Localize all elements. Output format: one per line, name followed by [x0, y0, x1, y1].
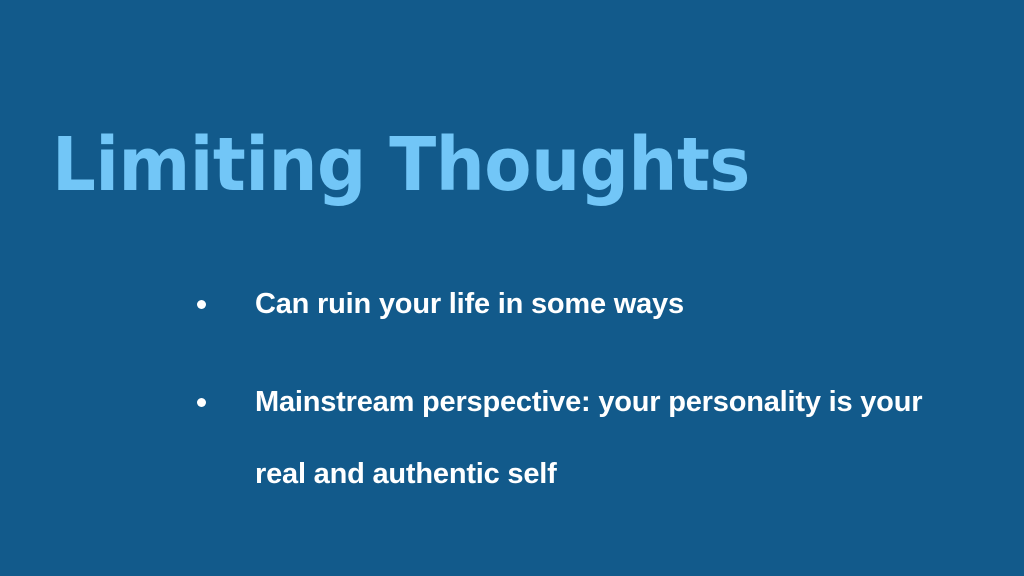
list-item: Mainstream perspective: your personality…	[190, 366, 950, 510]
page-title: Limiting Thoughts	[52, 128, 750, 202]
bullet-point-icon	[197, 398, 206, 407]
bullet-list: Can ruin your life in some ways Mainstre…	[190, 268, 950, 510]
presentation-slide: Limiting Thoughts Can ruin your life in …	[0, 0, 1024, 576]
bullet-point-icon	[197, 300, 206, 309]
bullet-item-label: Can ruin your life in some ways	[255, 268, 950, 340]
list-item: Can ruin your life in some ways	[190, 268, 950, 340]
bullet-item-label: Mainstream perspective: your personality…	[255, 366, 945, 510]
